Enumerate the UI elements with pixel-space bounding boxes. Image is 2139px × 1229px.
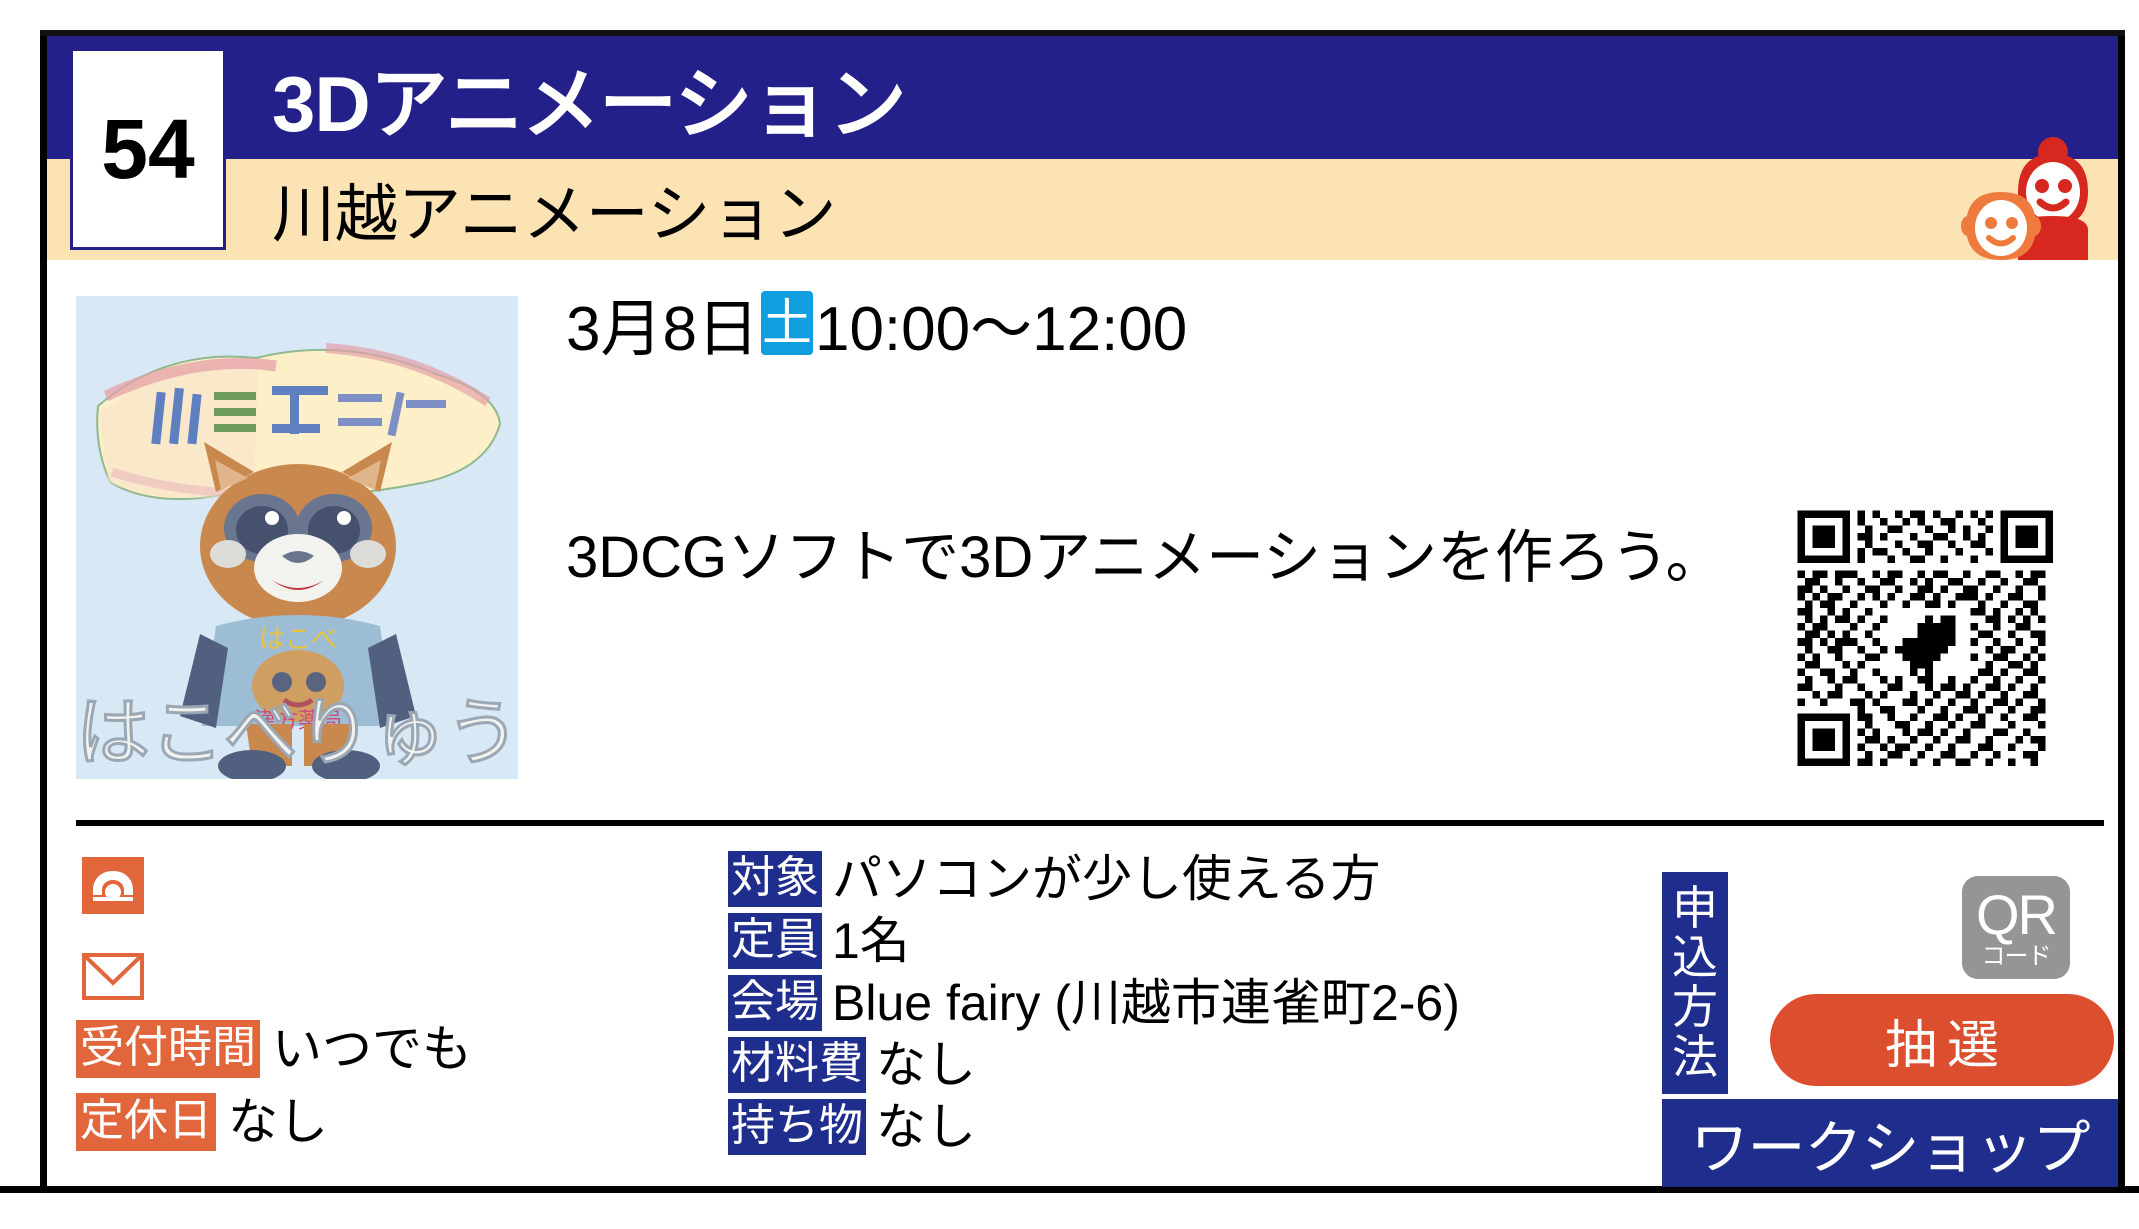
reception-hours-label: 受付時間 xyxy=(76,1020,260,1078)
card-border-right xyxy=(2118,30,2125,1193)
card-border-bottom xyxy=(0,1186,2139,1193)
workshop-description: 3DCGソフトで3Dアニメーションを作ろう。 xyxy=(566,510,1746,594)
dinosaur-icon xyxy=(1888,608,1971,676)
detail-label-material-fee: 材料費 xyxy=(728,1037,866,1093)
schedule-time: 10:00〜12:00 xyxy=(815,278,1187,368)
telephone-icon xyxy=(82,857,144,914)
qr-code[interactable] xyxy=(1790,503,2068,781)
mail-icon xyxy=(82,953,144,1000)
apply-char-1: 申 xyxy=(1672,884,1718,934)
detail-row-target: 対象 パソコンが少し使える方 xyxy=(728,848,1628,910)
detail-value-venue: Blue fairy (川越市連雀町2-6) xyxy=(832,978,1460,1028)
schedule-date: 3月8日 xyxy=(566,278,759,368)
detail-value-bring: なし xyxy=(876,1102,976,1152)
category-bar: ワークショップ xyxy=(1662,1099,2118,1187)
qr-badge-sub-label: コード xyxy=(1982,945,2051,969)
detail-row-capacity: 定員 1名 xyxy=(728,910,1628,972)
detail-value-capacity: 1名 xyxy=(832,916,910,966)
svg-text:はこべ: はこべ xyxy=(259,624,337,654)
qr-badge-main-label: QR xyxy=(1976,887,2056,943)
detail-label-bring: 持ち物 xyxy=(728,1099,866,1155)
svg-text:はこべりゅう: はこべりゅう xyxy=(76,691,518,774)
card-border-left xyxy=(40,30,47,1193)
closed-days-label: 定休日 xyxy=(76,1093,216,1151)
qr-code-badge: QR コード xyxy=(1962,876,2070,979)
detail-value-target: パソコンが少し使える方 xyxy=(832,854,1381,904)
application-method-label: 申 込 方 法 xyxy=(1662,872,1728,1094)
detail-row-bring: 持ち物 なし xyxy=(728,1096,1628,1158)
detail-value-material-fee: なし xyxy=(876,1040,976,1090)
apply-char-2: 込 xyxy=(1672,933,1718,983)
workshop-photo: はこべ 漢方薬局 はこべりゅう xyxy=(76,296,518,779)
reception-hours-row: 受付時間 いつでも xyxy=(76,1020,472,1078)
schedule-line: 3月8日 土 10:00〜12:00 xyxy=(566,285,1187,361)
workshop-card: 3Dアニメーション 川越アニメーション 54 xyxy=(0,0,2139,1229)
detail-label-capacity: 定員 xyxy=(728,913,822,969)
section-divider xyxy=(76,820,2104,826)
detail-label-target: 対象 xyxy=(728,851,822,907)
closed-days-value: なし xyxy=(228,1097,328,1147)
day-of-week-chip: 土 xyxy=(761,291,813,355)
organizer-name: 川越アニメーション xyxy=(272,160,1772,258)
parent-child-icon xyxy=(1960,130,2108,260)
page-title: 3Dアニメーション xyxy=(272,40,1872,155)
apply-char-3: 方 xyxy=(1672,983,1718,1033)
detail-row-venue: 会場 Blue fairy (川越市連雀町2-6) xyxy=(728,972,1628,1034)
application-method-pill[interactable]: 抽選 xyxy=(1770,994,2114,1086)
apply-char-4: 法 xyxy=(1672,1033,1718,1083)
detail-row-material-fee: 材料費 なし xyxy=(728,1034,1628,1096)
closed-days-row: 定休日 なし xyxy=(76,1093,328,1151)
reception-hours-value: いつでも xyxy=(272,1024,472,1074)
detail-label-venue: 会場 xyxy=(728,975,822,1031)
workshop-number: 54 xyxy=(101,107,194,191)
workshop-number-badge: 54 xyxy=(70,48,226,250)
detail-list: 対象 パソコンが少し使える方 定員 1名 会場 Blue fairy (川越市連… xyxy=(728,848,1628,1158)
